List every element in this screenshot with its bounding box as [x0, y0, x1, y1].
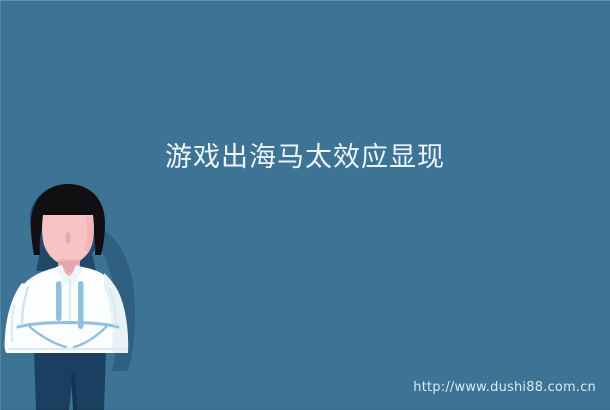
- character-illustration: [0, 175, 160, 410]
- hoodie-placket: [69, 279, 71, 325]
- site-watermark: http://www.dushi88.com.cn: [413, 380, 596, 396]
- page-title: 游戏出海马太效应显现: [0, 141, 610, 175]
- image-canvas: 游戏出海马太效应显现 http://www.dushi88.com.cn: [0, 0, 610, 410]
- blue-drawstring-left: [56, 281, 62, 321]
- navy-pants: [34, 351, 106, 410]
- nose-mark: [66, 232, 71, 244]
